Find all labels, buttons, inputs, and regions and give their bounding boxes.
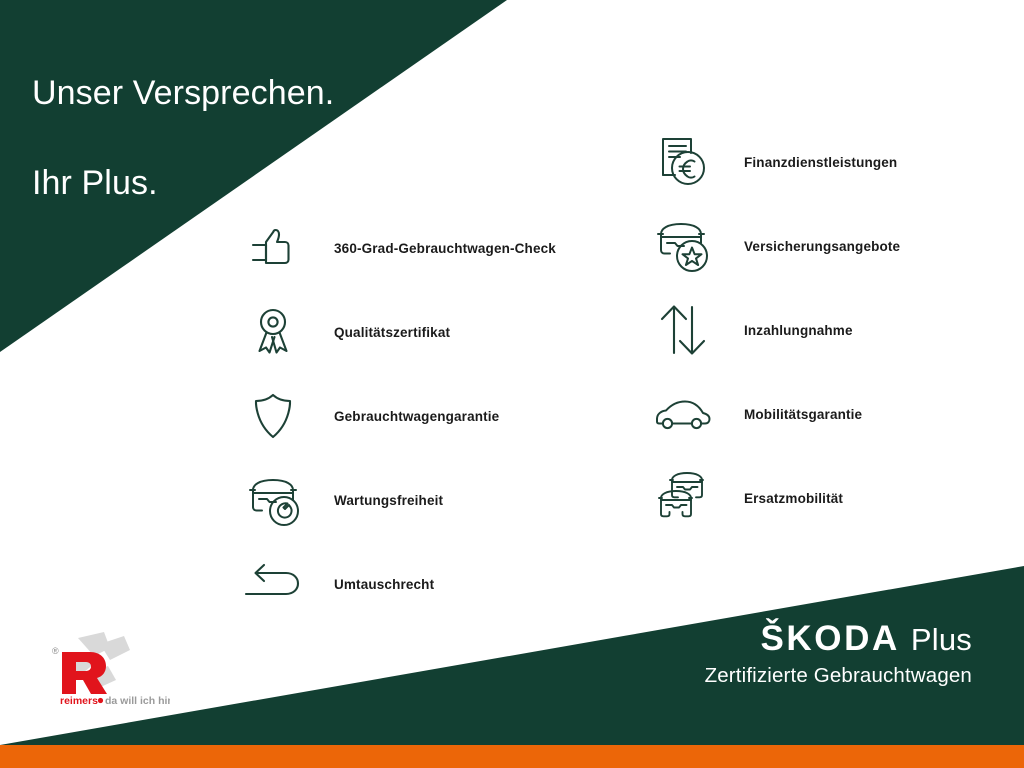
feature-label: Finanzdienstleistungen: [744, 155, 897, 170]
reimers-name: reimers: [60, 695, 98, 707]
feature-label: Gebrauchtwagengarantie: [334, 409, 499, 424]
skoda-wordmark-row: ŠKODA Plus: [705, 621, 972, 656]
feature-item: Qualitätszertifikat: [238, 290, 598, 374]
reimers-registered-symbol: ®: [52, 646, 59, 656]
reimers-claim: da will ich hin: [105, 695, 170, 707]
skoda-plus-lockup: ŠKODA Plus Zertifizierte Gebrauchtwagen: [705, 621, 972, 688]
feature-label: Inzahlungnahme: [744, 323, 853, 338]
slide-canvas: Unser Versprechen. Ihr Plus. 360-Grad-Ge…: [0, 0, 1024, 768]
feature-item: Ersatzmobilität: [648, 456, 1018, 540]
feature-label: 360-Grad-Gebrauchtwagen-Check: [334, 241, 556, 256]
orange-footer-bar: [0, 745, 1024, 768]
reimers-separator-dot: [98, 698, 103, 703]
feature-list-right: Finanzdienstleistungen Versicherungsange…: [648, 120, 1018, 540]
feature-label: Mobilitätsgarantie: [744, 407, 862, 422]
feature-label: Wartungsfreiheit: [334, 493, 443, 508]
feature-item: Umtauschrecht: [238, 542, 598, 626]
page-title-line-2: Ihr Plus.: [32, 161, 334, 206]
car-wrench-icon: [238, 469, 308, 531]
shield-icon: [238, 385, 308, 447]
u-turn-arrow-icon: [238, 553, 308, 615]
two-cars-icon: [648, 467, 718, 529]
feature-label: Umtauschrecht: [334, 577, 434, 592]
skoda-wordmark: ŠKODA: [760, 621, 899, 656]
quality-rosette-icon: [238, 301, 308, 363]
feature-item: Inzahlungnahme: [648, 288, 1018, 372]
document-euro-icon: [648, 131, 718, 193]
skoda-tagline: Zertifizierte Gebrauchtwagen: [705, 664, 972, 688]
feature-item: Wartungsfreiheit: [238, 458, 598, 542]
feature-item: 360-Grad-Gebrauchtwagen-Check: [238, 206, 598, 290]
feature-label: Versicherungsangebote: [744, 239, 900, 254]
car-side-icon: [648, 383, 718, 445]
car-star-icon: [648, 215, 718, 277]
thumbs-up-icon: [238, 217, 308, 279]
feature-list-left: 360-Grad-Gebrauchtwagen-Check Qualitätsz…: [238, 206, 598, 626]
feature-item: Finanzdienstleistungen: [648, 120, 1018, 204]
reimers-logo-r-mark: [62, 652, 107, 694]
reimers-dealer-logo: ® reimers da will ich hin: [38, 630, 170, 710]
feature-item: Gebrauchtwagengarantie: [238, 374, 598, 458]
feature-item: Versicherungsangebote: [648, 204, 1018, 288]
feature-item: Mobilitätsgarantie: [648, 372, 1018, 456]
page-title-line-1: Unser Versprechen.: [32, 71, 334, 116]
skoda-plus-suffix: Plus: [911, 624, 972, 655]
feature-label: Ersatzmobilität: [744, 491, 843, 506]
feature-label: Qualitätszertifikat: [334, 325, 450, 340]
up-down-arrows-icon: [648, 299, 718, 361]
